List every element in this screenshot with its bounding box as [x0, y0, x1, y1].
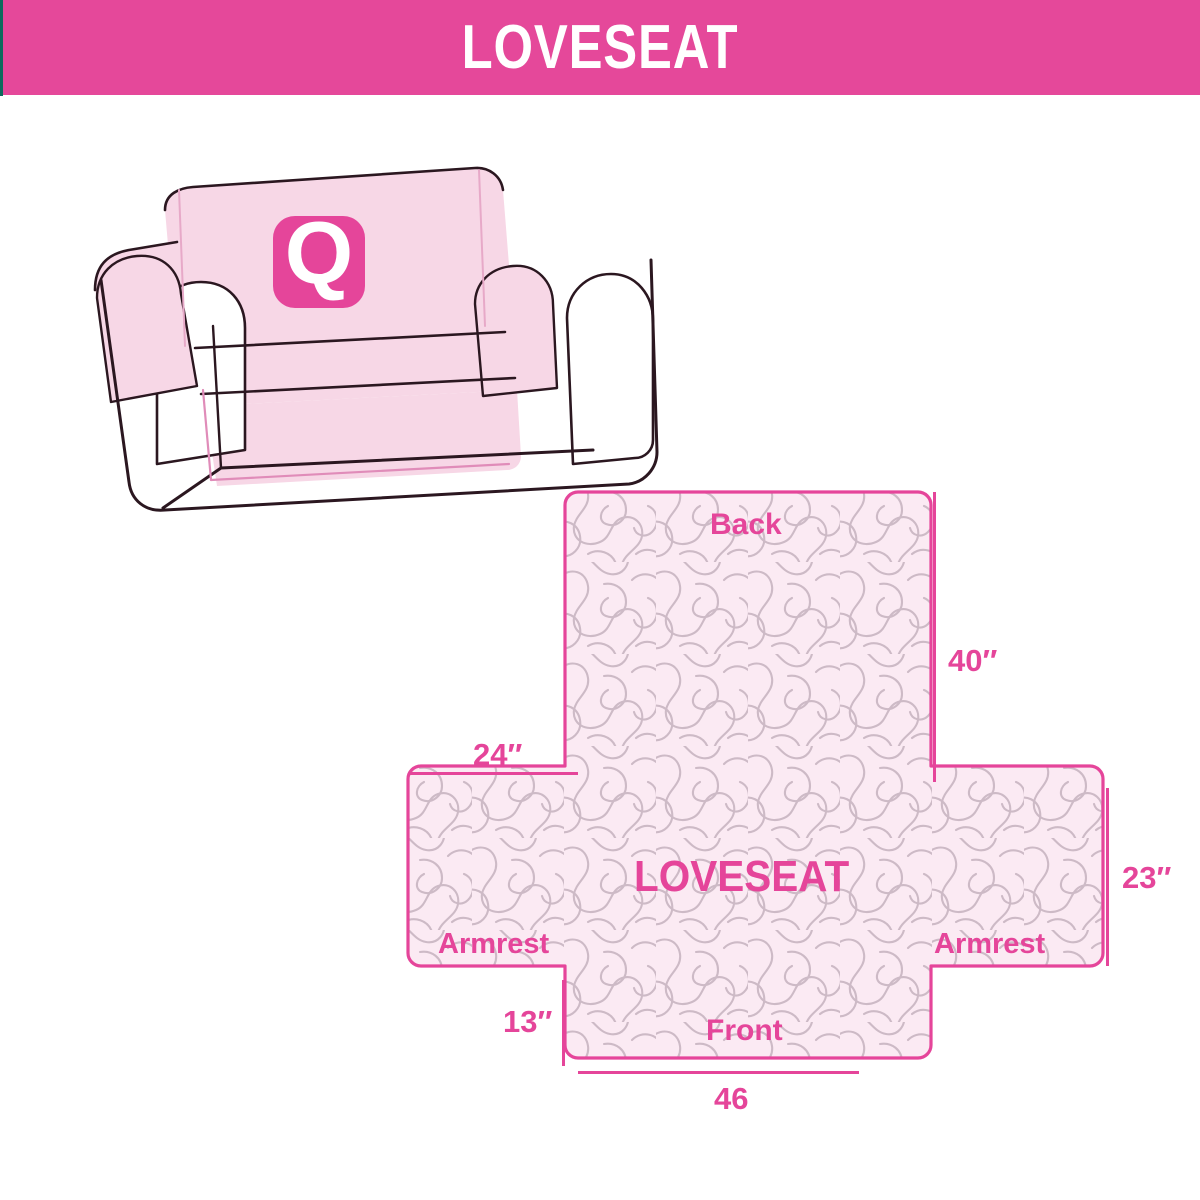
dimension-line-seat-depth — [1106, 788, 1109, 966]
dimension-line-armrest-width — [410, 772, 578, 775]
panel-label-front: Front — [706, 1016, 783, 1046]
cover-outline — [408, 492, 1103, 1058]
dimension-line-overall-width — [578, 1071, 859, 1074]
panel-label-armrest-left: Armrest — [438, 930, 549, 959]
dimension-line-front-drop — [562, 980, 565, 1066]
product-label-loveseat: LOVESEAT — [634, 855, 849, 899]
dimension-value-overall-width: 46 — [714, 1083, 748, 1114]
dimension-value-back-height: 40″ — [948, 645, 997, 676]
dimension-value-front-drop: 13″ — [503, 1006, 552, 1037]
sofa-body-group — [95, 168, 657, 510]
page-title: LOVESEAT — [108, 0, 1092, 95]
dimension-value-seat-depth: 23″ — [1122, 862, 1171, 893]
panel-label-armrest-right: Armrest — [934, 930, 1045, 959]
brand-logo-badge: Q — [273, 203, 365, 308]
sofa-right-armrest — [567, 274, 653, 464]
logo-letter-q: Q — [285, 203, 353, 302]
sofa-right-arm-cover — [475, 266, 557, 396]
cover-shape-group — [408, 492, 1103, 1058]
left-edge-strip — [0, 0, 3, 96]
size-chart-page: LOVESEAT — [0, 0, 1200, 1200]
dimension-value-armrest-width: 24″ — [473, 739, 522, 770]
panel-label-back: Back — [710, 510, 782, 540]
dimension-line-back-height — [933, 492, 936, 782]
